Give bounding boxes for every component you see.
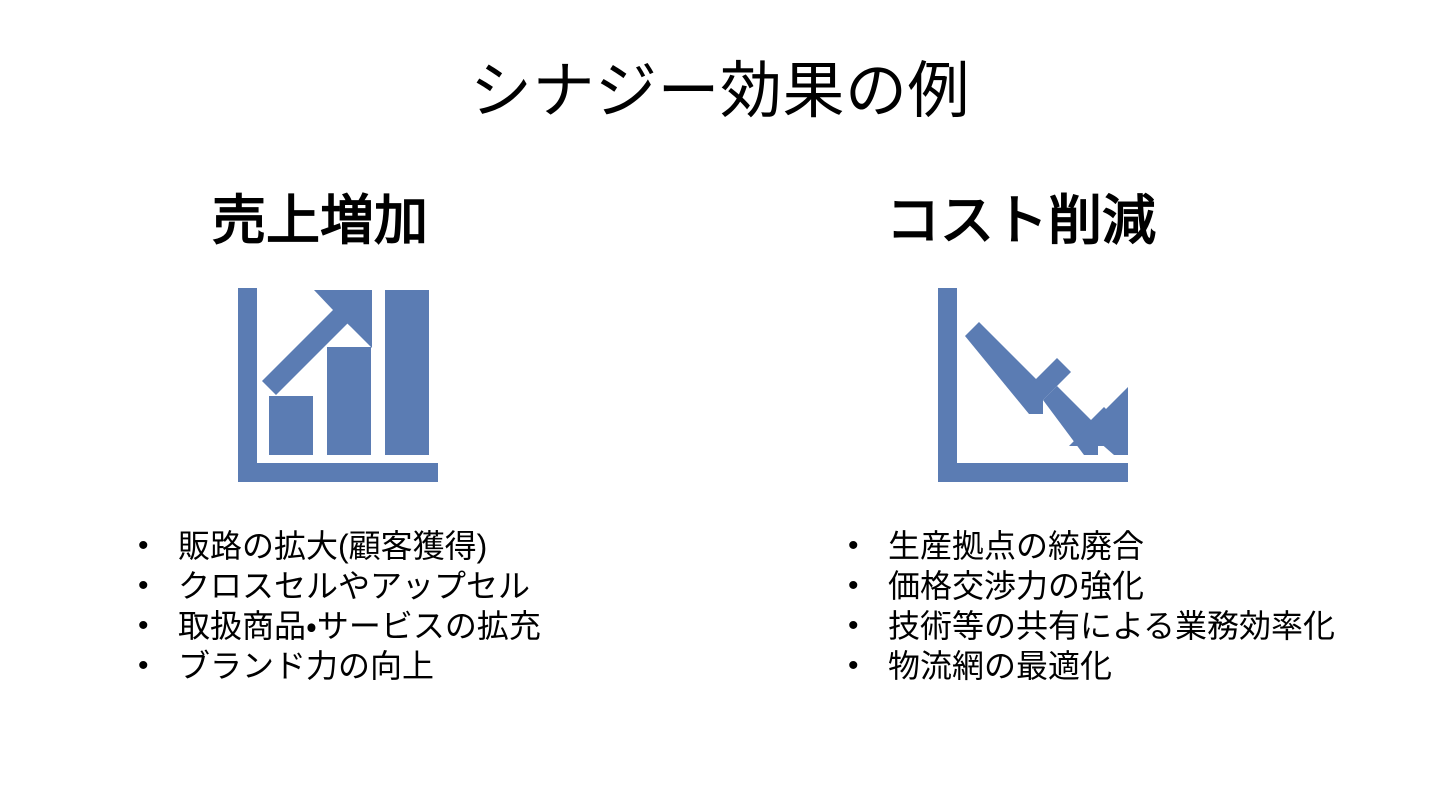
list-item-label: 技術等の共有による業務効率化 [888,606,1335,646]
bullet-marker-icon: • [848,646,859,686]
bullet-marker-icon: • [138,526,149,566]
bullet-list-sales-increase: • 販路の拡大(顧客獲得) • クロスセルやアップセル • 取扱商品・サービスの… [120,526,700,686]
bullet-marker-icon: • [848,526,859,566]
list-item-label: ブランド力の向上 [178,646,434,686]
bullet-list-cost-reduction: • 生産拠点の統廃合 • 価格交渉力の強化 • 技術等の共有による業務効率化 •… [830,526,1430,686]
bullet-marker-icon: • [138,566,149,606]
column-heading-sales-increase: 売上増加 [120,190,700,252]
list-item: • 物流網の最適化 [846,646,1430,686]
list-item-label: クロスセルやアップセル [178,566,530,606]
list-item-label: 生産拠点の統廃合 [888,526,1144,566]
bullet-marker-icon: • [848,566,859,606]
slide-canvas: シナジー効果の例 売上増加 • 販路の拡大(顧客獲得) [0,0,1440,810]
column-heading-cost-reduction: コスト削減 [830,190,1430,252]
icon-container-cost-reduction [830,288,1430,488]
column-sales-increase: 売上増加 • 販路の拡大(顧客獲得) • クロスセル [120,190,700,686]
list-item: • 技術等の共有による業務効率化 [846,606,1430,646]
list-item: • ブランド力の向上 [136,646,700,686]
list-item: • 販路の拡大(顧客獲得) [136,526,700,566]
list-item: • 生産拠点の統廃合 [846,526,1430,566]
bullet-marker-icon: • [848,606,859,646]
page-title: シナジー効果の例 [0,58,1440,126]
line-chart-down-icon [938,288,1128,484]
bullet-marker-icon: • [138,646,149,686]
bar-chart-up-icon [238,288,438,484]
list-item: • 取扱商品・サービスの拡充 [136,606,700,646]
list-item-label: 価格交渉力の強化 [888,566,1144,606]
bullet-marker-icon: • [138,606,149,646]
list-item-label: 物流網の最適化 [888,646,1112,686]
list-item-label: 取扱商品・サービスの拡充 [178,606,541,646]
icon-container-sales-increase [120,288,700,488]
list-item: • 価格交渉力の強化 [846,566,1430,606]
list-item: • クロスセルやアップセル [136,566,700,606]
list-item-label: 販路の拡大(顧客獲得) [178,526,487,566]
column-cost-reduction: コスト削減 • 生産拠点の統廃合 • 価格交渉力の強 [830,190,1430,686]
